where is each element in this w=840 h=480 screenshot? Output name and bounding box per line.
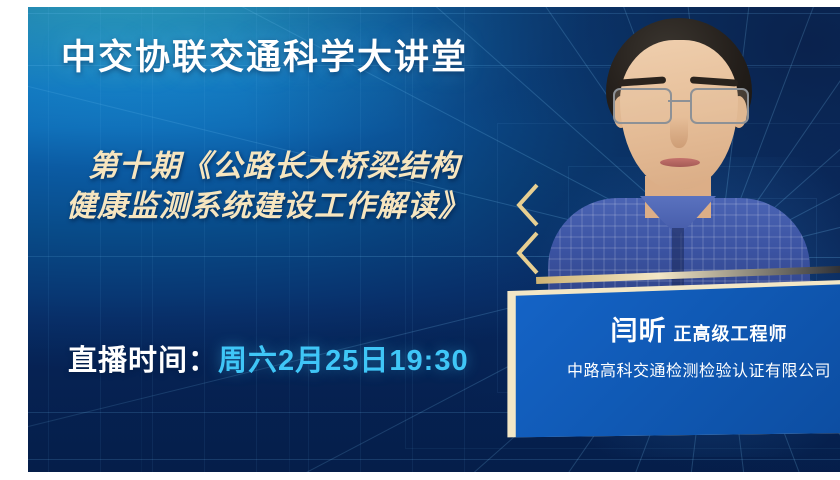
episode-subtitle: 第十期《公路长大桥梁结构 健康监测系统建设工作解读》 [66,147,586,226]
speaker-title: 正高级工程师 [674,324,788,344]
subtitle-line-1: 第十期《公路长大桥梁结构 [66,147,586,187]
portrait-nose [670,118,688,148]
subtitle-line-2: 健康监测系统建设工作解读》 [66,187,586,227]
poster-root: 中交协联交通科学大讲堂 第十期《公路长大桥梁结构 健康监测系统建设工作解读》 直… [0,0,840,480]
live-time: 直播时间：周六2月25日19:30 [68,337,469,379]
speaker-heading: 闫昕正高级工程师 [536,309,840,348]
portrait-mouth [660,158,700,167]
live-time-label: 直播时间： [68,345,218,377]
poster-canvas: 中交协联交通科学大讲堂 第十期《公路长大桥梁结构 健康监测系统建设工作解读》 直… [28,7,840,472]
glasses-icon [612,88,746,122]
live-time-value: 周六2月25日19:30 [218,345,469,377]
panel-text: 闫昕正高级工程师 中路高科交通检测检验认证有限公司 [536,309,840,381]
speaker-name: 闫昕 [611,316,667,346]
speaker-panel: 闫昕正高级工程师 中路高科交通检测检验认证有限公司 [496,279,840,439]
speaker-organization: 中路高科交通检测检验认证有限公司 [536,357,840,381]
page-title: 中交协联交通科学大讲堂 [61,29,468,80]
